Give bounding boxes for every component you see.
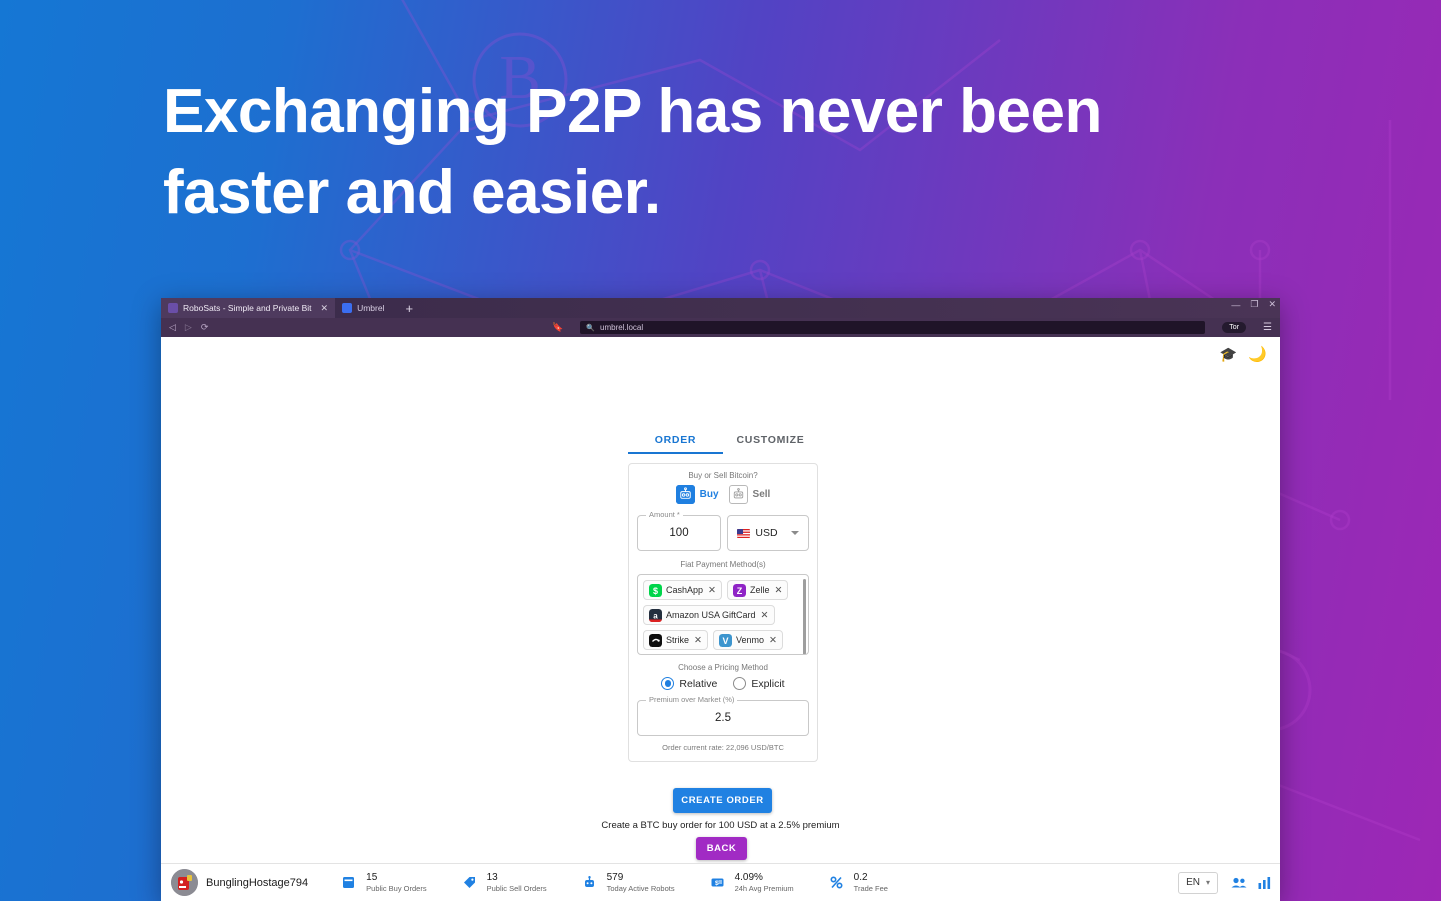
user-nickname: BunglingHostage794: [206, 877, 308, 889]
create-order-button[interactable]: CREATE ORDER: [673, 788, 772, 813]
tab-title: Umbrel: [357, 303, 384, 313]
tor-badge[interactable]: Tor: [1222, 322, 1246, 333]
robot-icon: [581, 874, 598, 891]
stat-trade-fee: 0.2 Trade Fee: [828, 872, 888, 894]
payment-methods-label: Fiat Payment Method(s): [637, 560, 809, 569]
stat-label: Trade Fee: [854, 884, 888, 893]
premium-legend: Premium over Market (%): [646, 695, 737, 704]
learn-graduation-cap-icon[interactable]: 🎓: [1220, 346, 1237, 363]
buy-label: Buy: [700, 489, 719, 500]
amount-value: 100: [669, 527, 688, 539]
back-icon[interactable]: ◁: [169, 323, 176, 332]
stat-value: 13: [487, 872, 547, 885]
browser-window: RoboSats - Simple and Private Bit ✕ Umbr…: [161, 298, 1280, 901]
window-maximize-button[interactable]: ❐: [1250, 299, 1258, 310]
venmo-icon: V: [719, 634, 732, 647]
hamburger-menu-icon[interactable]: ☰: [1263, 322, 1272, 333]
chip-remove-icon[interactable]: ✕: [775, 585, 783, 596]
robot-avatar[interactable]: [171, 869, 198, 896]
tab-title: RoboSats - Simple and Private Bit: [183, 303, 312, 313]
tab-close-icon[interactable]: ✕: [321, 303, 329, 314]
currency-select[interactable]: USD: [727, 515, 809, 551]
stat-value: 4.09%: [735, 872, 794, 885]
strike-icon: [649, 634, 662, 647]
status-end-icons: [1230, 874, 1272, 892]
payment-methods-scrollbar[interactable]: [803, 579, 806, 655]
robosats-app: 🎓 🌙 ORDER CUSTOMIZE Buy or Sell Bitcoin?: [161, 337, 1280, 901]
current-rate-text: Order current rate: 22,096 USD/BTC: [637, 743, 809, 752]
chip-remove-icon[interactable]: ✕: [708, 585, 716, 596]
window-minimize-button[interactable]: —: [1231, 300, 1240, 310]
form-tabs: ORDER CUSTOMIZE: [628, 434, 818, 454]
svg-text:$: $: [653, 586, 658, 596]
radio-selected-icon: [661, 677, 674, 690]
stats-bars-icon[interactable]: [1257, 875, 1272, 891]
app-top-icons: 🎓 🌙: [1220, 345, 1267, 363]
stat-value: 579: [607, 872, 675, 885]
browser-toolbar: ◁ ▷ ⟳ 🔖 🔍 umbrel.local Tor ☰: [161, 318, 1280, 337]
chip-remove-icon[interactable]: ✕: [769, 635, 777, 646]
browser-tabstrip: RoboSats - Simple and Private Bit ✕ Umbr…: [161, 298, 1280, 318]
order-summary-text: Create a BTC buy order for 100 USD at a …: [161, 820, 1280, 831]
app-status-bar: BunglingHostage794 15 Public Buy Orders: [161, 863, 1280, 901]
pricing-method-radios: Relative Explicit: [637, 677, 809, 690]
tab-order[interactable]: ORDER: [628, 434, 723, 454]
headline-line-1: Exchanging P2P has never been: [163, 72, 1163, 153]
payment-chip-cashapp[interactable]: $ CashApp ✕: [643, 580, 722, 600]
browser-tab-umbrel[interactable]: Umbrel: [335, 298, 391, 318]
window-close-button[interactable]: ✕: [1268, 299, 1276, 310]
hero-headline: Exchanging P2P has never been faster and…: [163, 72, 1163, 233]
language-value: EN: [1186, 877, 1200, 888]
percent-icon: [828, 874, 845, 891]
chevron-down-icon: ▾: [1206, 878, 1210, 887]
search-icon: 🔍: [586, 324, 595, 332]
tag-icon: [461, 874, 478, 891]
sell-label: Sell: [753, 489, 771, 500]
buy-option[interactable]: Buy: [676, 485, 719, 504]
currency-value: USD: [755, 527, 777, 539]
forward-icon[interactable]: ▷: [185, 323, 192, 332]
chip-remove-icon[interactable]: ✕: [761, 610, 769, 621]
payment-chip-strike[interactable]: Strike ✕: [643, 630, 708, 650]
buy-sell-label: Buy or Sell Bitcoin?: [637, 471, 809, 480]
chip-label: CashApp: [666, 585, 703, 595]
tab-customize[interactable]: CUSTOMIZE: [723, 434, 818, 454]
community-people-icon[interactable]: [1230, 874, 1248, 892]
payment-chip-amazon[interactable]: a Amazon USA GiftCard ✕: [643, 605, 775, 625]
sell-robot-icon: [729, 485, 748, 504]
radio-unselected-icon: [733, 677, 746, 690]
chip-remove-icon[interactable]: ✕: [694, 635, 702, 646]
money-icon: $: [709, 874, 726, 891]
sell-option[interactable]: Sell: [729, 485, 771, 504]
stat-label: Public Sell Orders: [487, 884, 547, 893]
buy-robot-icon: [676, 485, 695, 504]
url-bar[interactable]: 🔍 umbrel.local: [580, 321, 1205, 334]
pricing-option-relative[interactable]: Relative: [661, 677, 717, 690]
payment-methods-box[interactable]: $ CashApp ✕ Z Zelle ✕: [637, 574, 809, 655]
dark-mode-moon-icon[interactable]: 🌙: [1248, 345, 1267, 363]
stat-value: 0.2: [854, 872, 888, 885]
stat-today-active-robots: 579 Today Active Robots: [581, 872, 675, 894]
chip-label: Strike: [666, 635, 689, 645]
amount-legend: Amount *: [646, 510, 683, 519]
stat-label: Today Active Robots: [607, 884, 675, 893]
zelle-icon: Z: [733, 584, 746, 597]
bookmark-icon[interactable]: 🔖: [552, 323, 563, 332]
svg-text:Z: Z: [737, 586, 743, 596]
order-form-card: Buy or Sell Bitcoin? Buy: [628, 463, 818, 762]
headline-line-2: faster and easier.: [163, 153, 1163, 234]
titlebar-drag-area: — ❐ ✕: [427, 298, 1280, 318]
new-tab-button[interactable]: +: [391, 298, 427, 318]
us-flag-icon: [737, 529, 750, 538]
payment-chip-list: $ CashApp ✕ Z Zelle ✕: [643, 580, 803, 650]
chip-label: Venmo: [736, 635, 764, 645]
amount-input[interactable]: Amount * 100: [637, 515, 721, 551]
window-controls: — ❐ ✕: [1231, 299, 1276, 310]
premium-input[interactable]: Premium over Market (%) 2.5: [637, 700, 809, 736]
pricing-method-label: Choose a Pricing Method: [637, 663, 809, 672]
amount-row: Amount * 100 USD: [637, 515, 809, 551]
stat-label: 24h Avg Premium: [735, 884, 794, 893]
buy-sell-toggle: Buy Sell: [637, 485, 809, 504]
radio-label: Relative: [679, 678, 717, 690]
payment-chip-venmo[interactable]: V Venmo ✕: [713, 630, 783, 650]
svg-text:$: $: [715, 880, 719, 887]
umbrel-favicon: [342, 303, 352, 313]
svg-text:a: a: [653, 611, 658, 620]
reload-icon[interactable]: ⟳: [201, 323, 209, 332]
amazon-icon: a: [649, 609, 662, 622]
stat-public-buy-orders: 15 Public Buy Orders: [340, 872, 426, 894]
url-text: umbrel.local: [600, 323, 643, 332]
page-root: B Exchanging P2P has never been faster a…: [0, 0, 1441, 901]
svg-text:V: V: [722, 636, 728, 646]
chevron-down-icon: [791, 531, 799, 535]
stat-24h-avg-premium: $ 4.09% 24h Avg Premium: [709, 872, 794, 894]
chip-label: Zelle: [750, 585, 770, 595]
language-selector[interactable]: EN ▾: [1178, 872, 1218, 894]
radio-label: Explicit: [751, 678, 784, 690]
stat-label: Public Buy Orders: [366, 884, 426, 893]
stat-value: 15: [366, 872, 426, 885]
browser-tab-robosats[interactable]: RoboSats - Simple and Private Bit ✕: [161, 298, 335, 318]
chip-label: Amazon USA GiftCard: [666, 610, 756, 620]
premium-value: 2.5: [715, 712, 731, 724]
pricing-option-explicit[interactable]: Explicit: [733, 677, 784, 690]
back-button[interactable]: BACK: [696, 837, 747, 860]
inbox-icon: [340, 874, 357, 891]
robosats-favicon: [168, 303, 178, 313]
stat-public-sell-orders: 13 Public Sell Orders: [461, 872, 547, 894]
cashapp-icon: $: [649, 584, 662, 597]
payment-chip-zelle[interactable]: Z Zelle ✕: [727, 580, 788, 600]
